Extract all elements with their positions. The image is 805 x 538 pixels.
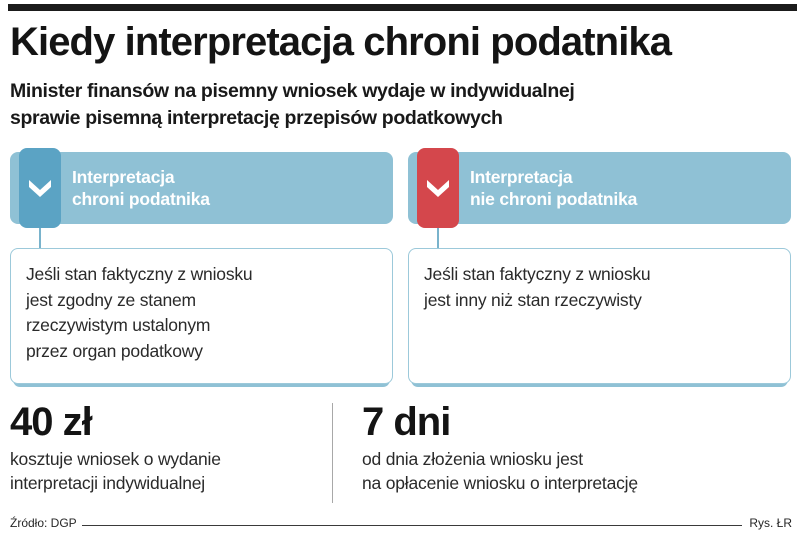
column-body-card: Jeśli stan faktyczny z wniosku jest zgod… (10, 248, 393, 384)
subtitle-line-1: Minister finansów na pisemny wniosek wyd… (10, 78, 790, 105)
connector-stem (437, 228, 439, 250)
footer-rule (82, 525, 743, 526)
page-title: Kiedy interpretacja chroni podatnika (10, 19, 671, 65)
column-header-line-1: Interpretacja (72, 166, 210, 188)
stat-desc-line-1: kosztuje wniosek o wydanie (10, 447, 332, 471)
footer: Źródło: DGP Rys. ŁR (10, 514, 792, 532)
column-header-line-1: Interpretacja (470, 166, 637, 188)
chevron-down-icon (19, 148, 61, 228)
stat-description: od dnia złożenia wniosku jest na opłacen… (362, 447, 792, 495)
stat-deadline: 7 dni od dnia złożenia wniosku jest na o… (362, 400, 792, 505)
footer-credit: Rys. ŁR (749, 516, 792, 530)
body-line-1: Jeśli stan faktyczny z wniosku (26, 262, 377, 288)
columns-container: Interpretacja chroni podatnika Jeśli sta… (10, 152, 792, 392)
subtitle-line-2: sprawie pisemną interpretację przepisów … (10, 105, 790, 132)
column-header-text: Interpretacja chroni podatnika (72, 166, 210, 210)
page-subtitle: Minister finansów na pisemny wniosek wyd… (10, 78, 790, 132)
stat-cost: 40 zł kosztuje wniosek o wydanie interpr… (10, 400, 332, 505)
body-line-1: Jeśli stan faktyczny z wniosku (424, 262, 775, 288)
chevron-down-icon (417, 148, 459, 228)
stat-value: 40 zł (10, 400, 332, 444)
column-protected: Interpretacja chroni podatnika Jeśli sta… (10, 152, 393, 392)
column-header-line-2: nie chroni podatnika (470, 188, 637, 210)
stat-desc-line-1: od dnia złożenia wniosku jest (362, 447, 792, 471)
footer-source: Źródło: DGP (10, 516, 77, 530)
stat-description: kosztuje wniosek o wydanie interpretacji… (10, 447, 332, 495)
connector-stem (39, 228, 41, 250)
column-body-text: Jeśli stan faktyczny z wniosku jest inny… (409, 249, 790, 313)
body-line-2: jest zgodny ze stanem (26, 288, 377, 314)
column-header-bar: Interpretacja nie chroni podatnika (408, 152, 791, 224)
column-header-line-2: chroni podatnika (72, 188, 210, 210)
stats-container: 40 zł kosztuje wniosek o wydanie interpr… (10, 400, 792, 505)
body-line-2: jest inny niż stan rzeczywisty (424, 288, 775, 314)
stat-desc-line-2: na opłacenie wniosku o interpretację (362, 471, 792, 495)
column-header-bar: Interpretacja chroni podatnika (10, 152, 393, 224)
body-line-4: przez organ podatkowy (26, 339, 377, 365)
top-rule (8, 4, 797, 11)
column-header-text: Interpretacja nie chroni podatnika (470, 166, 637, 210)
stats-divider (332, 403, 333, 503)
body-line-3: rzeczywistym ustalonym (26, 313, 377, 339)
column-body-text: Jeśli stan faktyczny z wniosku jest zgod… (11, 249, 392, 364)
stat-value: 7 dni (362, 400, 792, 444)
infographic-page: Kiedy interpretacja chroni podatnika Min… (0, 0, 805, 538)
stat-desc-line-2: interpretacji indywidualnej (10, 471, 332, 495)
column-not-protected: Interpretacja nie chroni podatnika Jeśli… (408, 152, 791, 392)
column-body-card: Jeśli stan faktyczny z wniosku jest inny… (408, 248, 791, 384)
